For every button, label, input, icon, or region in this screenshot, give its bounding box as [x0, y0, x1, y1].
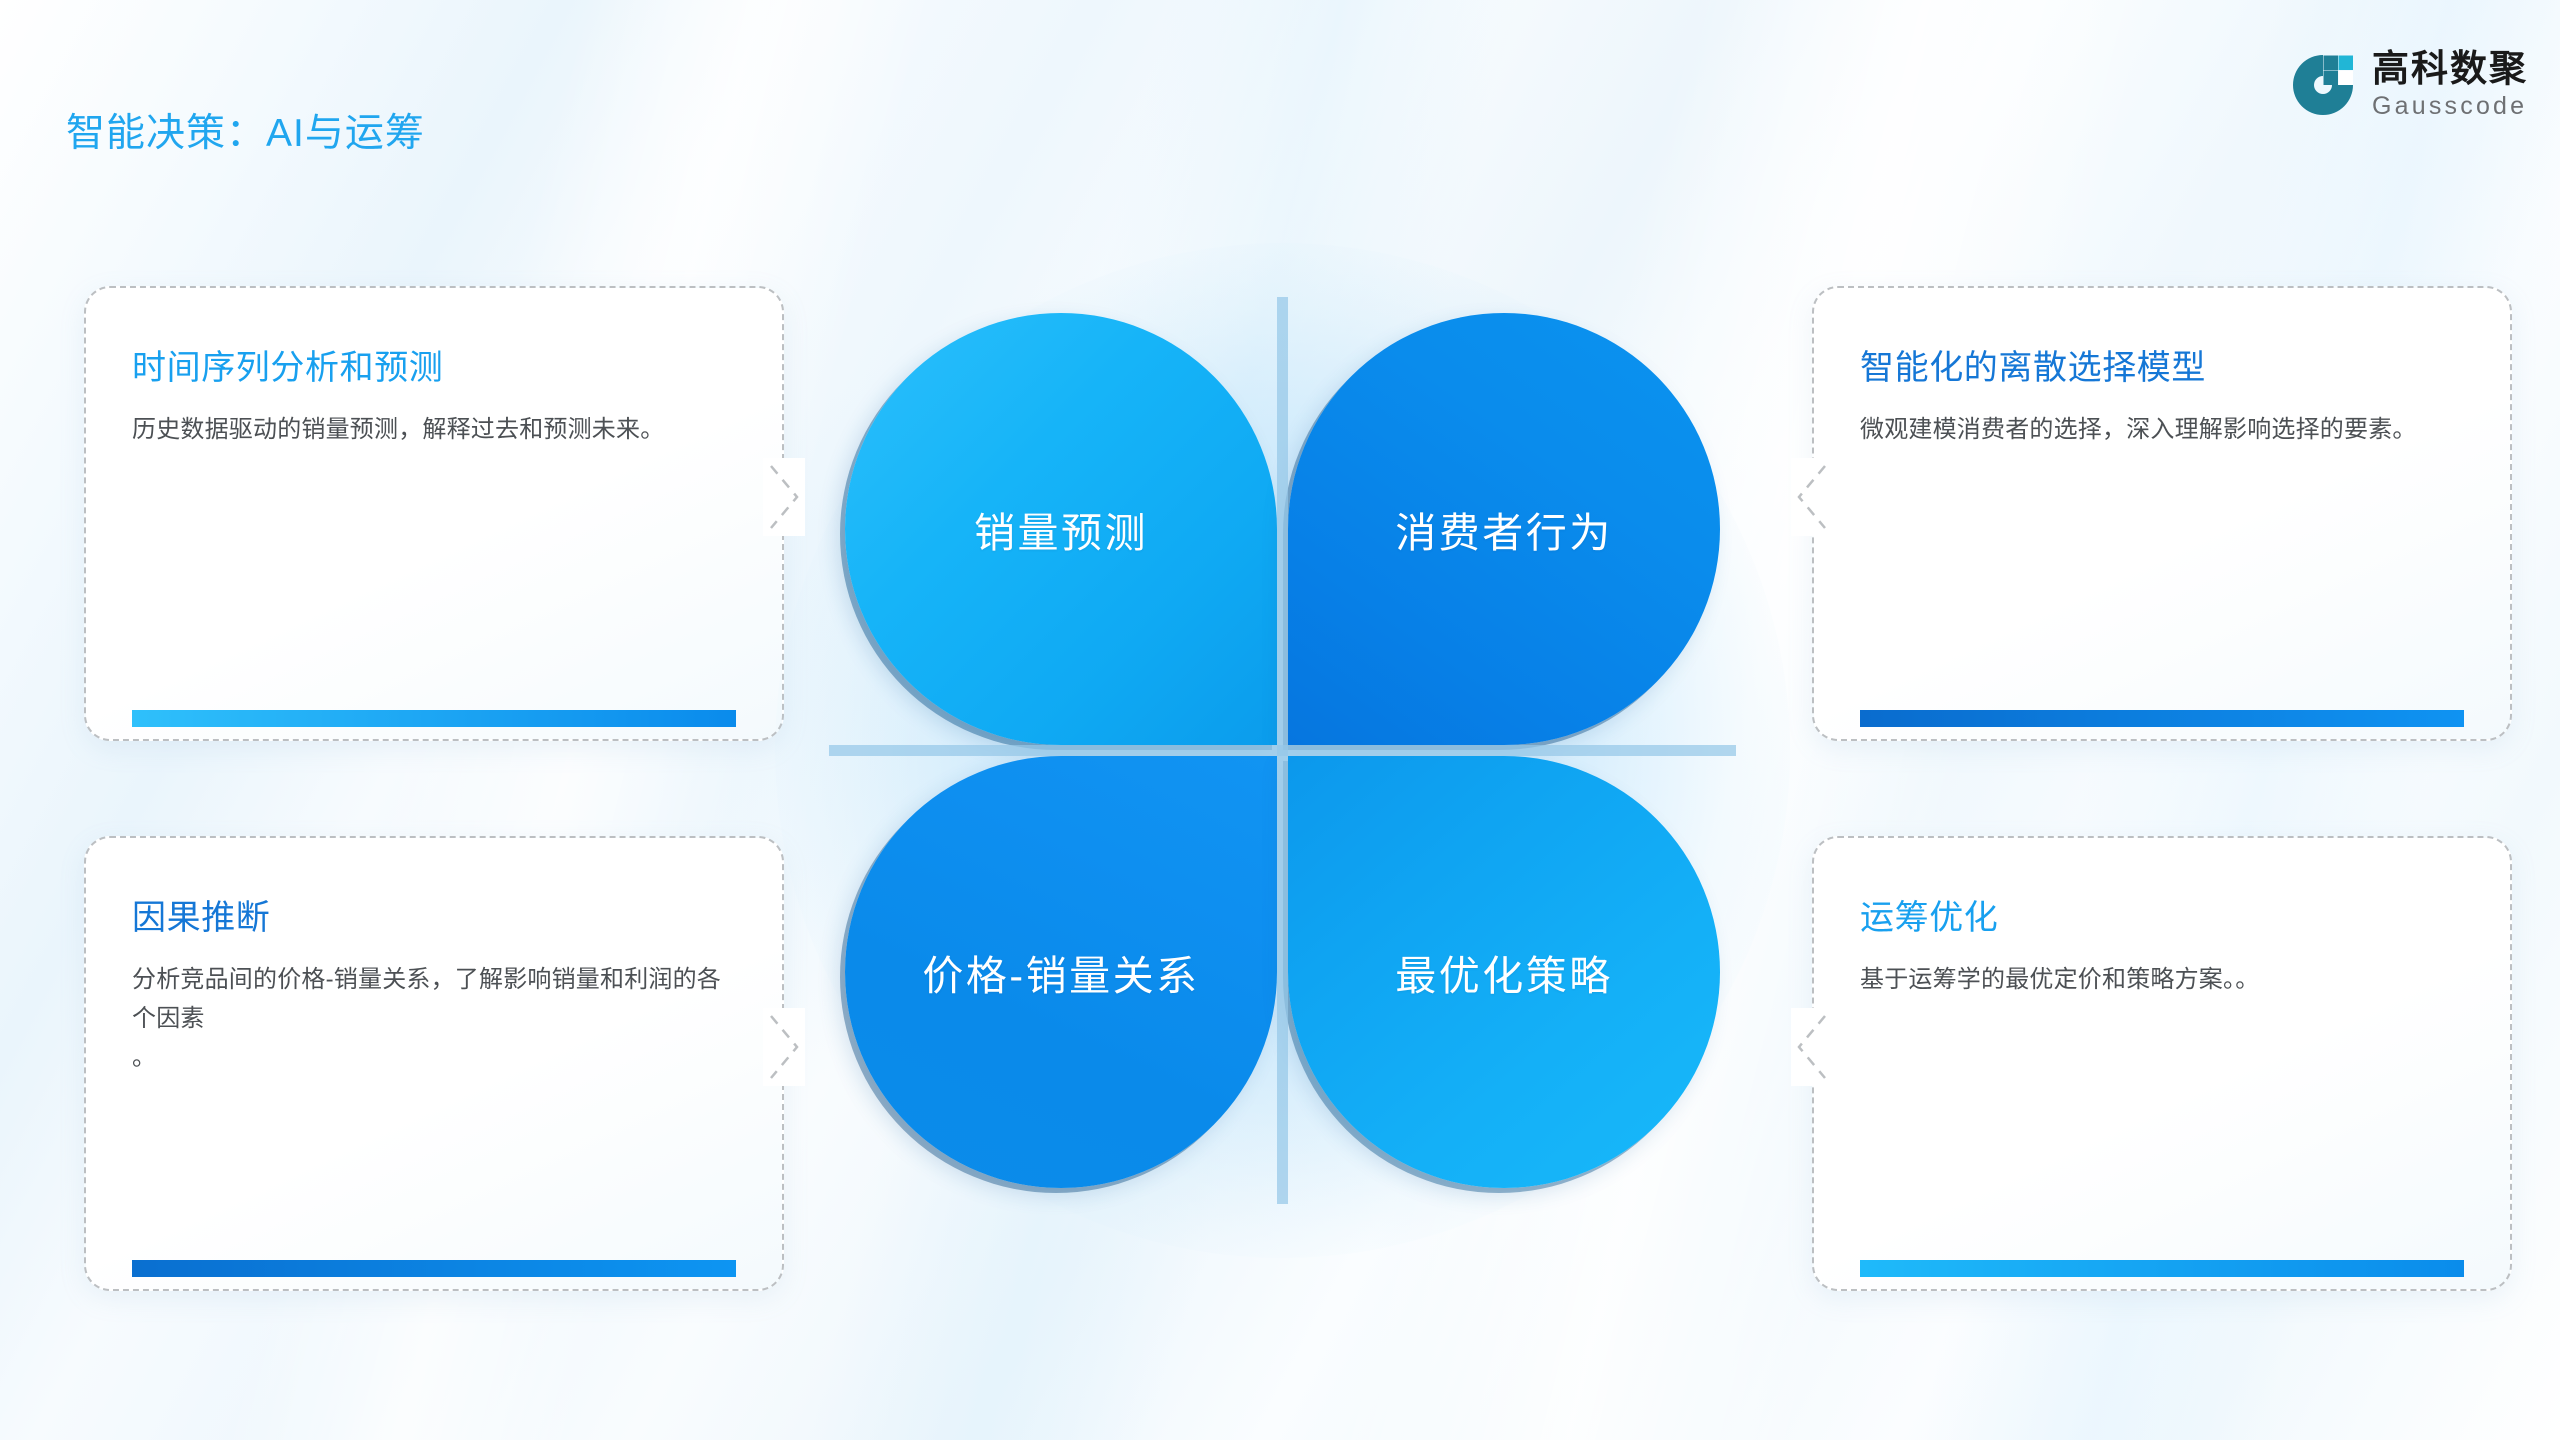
card-accent-bar [132, 1260, 736, 1277]
card-body: 基于运筹学的最优定价和策略方案。。 [1860, 961, 2464, 1000]
petal-price-sales-relation[interactable]: 价格-销量关系 [845, 756, 1277, 1188]
petal-label: 最优化策略 [1395, 942, 1613, 1002]
petal-consumer-behavior[interactable]: 消费者行为 [1288, 313, 1720, 745]
connector-chevron-left-icon [1791, 458, 1833, 536]
logo-text-cn: 高科数聚 [2372, 50, 2528, 87]
feature-card-discrete-choice[interactable]: 智能化的离散选择模型 微观建模消费者的选择，深入理解影响选择的要素。 [1812, 286, 2512, 741]
card-title: 智能化的离散选择模型 [1860, 340, 2464, 389]
connector-chevron-left-icon [1791, 1008, 1833, 1086]
feature-card-time-series[interactable]: 时间序列分析和预测 历史数据驱动的销量预测，解释过去和预测未来。 [84, 286, 784, 741]
brand-logo: 高科数聚 Gausscode [2290, 50, 2528, 119]
logo-wordmark: 高科数聚 Gausscode [2372, 50, 2528, 119]
feature-card-operations-research[interactable]: 运筹优化 基于运筹学的最优定价和策略方案。。 [1812, 836, 2512, 1291]
card-title: 因果推断 [132, 890, 736, 939]
petal-label: 消费者行为 [1395, 499, 1613, 559]
card-title: 运筹优化 [1860, 890, 2464, 939]
petal-label: 销量预测 [974, 499, 1148, 559]
card-accent-bar [132, 710, 736, 727]
card-body: 微观建模消费者的选择，深入理解影响选择的要素。 [1860, 411, 2464, 450]
connector-chevron-right-icon [763, 1008, 805, 1086]
petal-optimization-strategy[interactable]: 最优化策略 [1288, 756, 1720, 1188]
petal-diagram: 销量预测 消费者行为 价格-销量关系 最优化策略 [845, 313, 1720, 1188]
card-accent-bar [1860, 1260, 2464, 1277]
page-title: 智能决策：AI与运筹 [66, 102, 425, 158]
card-body: 历史数据驱动的销量预测，解释过去和预测未来。 [132, 411, 736, 450]
card-body: 分析竞品间的价格-销量关系，了解影响销量和利润的各个因素 。 [132, 961, 736, 1078]
card-title: 时间序列分析和预测 [132, 340, 736, 389]
petal-label: 价格-销量关系 [922, 942, 1199, 1002]
logo-text-en: Gausscode [2372, 94, 2528, 119]
feature-card-causal-inference[interactable]: 因果推断 分析竞品间的价格-销量关系，了解影响销量和利润的各个因素 。 [84, 836, 784, 1291]
connector-chevron-right-icon [763, 458, 805, 536]
card-accent-bar [1860, 710, 2464, 727]
gausscode-logo-icon [2290, 52, 2356, 118]
petal-sales-forecast[interactable]: 销量预测 [845, 313, 1277, 745]
slide-canvas: 智能决策：AI与运筹 高科数聚 Gausscode 时间序列分析和预测 历史数据… [0, 0, 2560, 1440]
